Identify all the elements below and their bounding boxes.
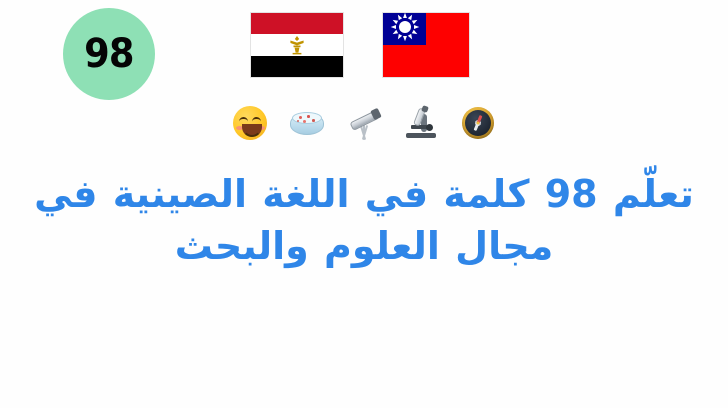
petri-dish-culture-dot xyxy=(312,119,315,122)
microscope-focus-knob xyxy=(426,124,433,131)
white-sun-icon xyxy=(390,12,420,46)
compass-icon xyxy=(460,105,496,141)
petri-dish-culture-dot xyxy=(299,116,302,119)
promo-card: 98 xyxy=(0,0,728,408)
compass-center-pin xyxy=(477,122,480,125)
smiling-face-eye-right xyxy=(252,117,261,124)
flag-egypt-black-band xyxy=(251,56,343,77)
petri-dish-culture-dot xyxy=(307,115,310,118)
microscope-base xyxy=(406,133,436,138)
telescope-icon xyxy=(346,105,382,141)
flag-egypt xyxy=(250,12,344,78)
petri-dish-lid xyxy=(292,112,322,124)
petri-dish-culture-dot xyxy=(297,120,299,122)
top-row: 98 xyxy=(0,0,728,100)
eagle-of-saladin-icon xyxy=(288,34,306,56)
smiling-face-eye-left xyxy=(239,117,248,124)
headline-text: تعلّم 98 كلمة في اللغة الصينية في مجال ا… xyxy=(28,168,700,272)
smiling-face-icon xyxy=(232,105,268,141)
word-count-badge-number: 98 xyxy=(84,34,133,74)
petri-dish-icon xyxy=(289,105,325,141)
telescope-tripod-leg xyxy=(363,125,365,140)
microscope-icon xyxy=(403,105,439,141)
flag-egypt-red-band xyxy=(251,13,343,34)
word-count-badge: 98 xyxy=(63,8,155,100)
science-emoji-row xyxy=(0,99,728,147)
flag-taiwan xyxy=(382,12,470,78)
petri-dish-culture-dot xyxy=(303,120,306,123)
